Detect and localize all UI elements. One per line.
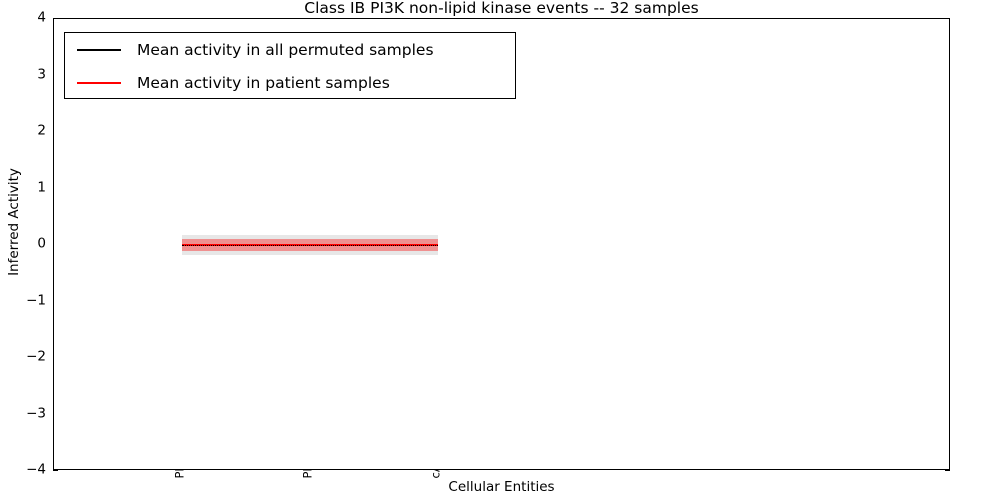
- legend-entry: Mean activity in patient samples: [65, 66, 515, 99]
- y-axis-tick-mark: [945, 470, 950, 471]
- y-axis-tick-label: −3: [6, 407, 46, 421]
- y-axis-tick-label: 2: [6, 124, 46, 138]
- x-axis-label: Cellular Entities: [53, 479, 950, 495]
- legend-color-swatch: [77, 49, 121, 51]
- legend-entry: Mean activity in all permuted samples: [65, 33, 515, 66]
- y-axis-tick-label: 3: [6, 68, 46, 82]
- chart-figure: Class IB PI3K non-lipid kinase events --…: [0, 0, 1000, 500]
- y-axis-tick-label: −4: [6, 463, 46, 477]
- y-axis-tick-label: −2: [6, 350, 46, 364]
- y-axis-tick-label: 0: [6, 237, 46, 251]
- chart-legend: Mean activity in all permuted samplesMea…: [64, 32, 516, 99]
- y-axis-tick-label: 1: [6, 181, 46, 195]
- y-axis-tick-label: 4: [6, 11, 46, 25]
- y-axis-label: Inferred Activity: [6, 142, 22, 302]
- y-axis-tick-label: −1: [6, 294, 46, 308]
- legend-label: Mean activity in all permuted samples: [137, 41, 434, 59]
- y-axis-tick-mark: [53, 470, 58, 471]
- legend-label: Mean activity in patient samples: [137, 74, 390, 92]
- permuted-mean-line: [182, 245, 438, 246]
- legend-color-swatch: [77, 82, 121, 84]
- chart-title: Class IB PI3K non-lipid kinase events --…: [53, 0, 950, 18]
